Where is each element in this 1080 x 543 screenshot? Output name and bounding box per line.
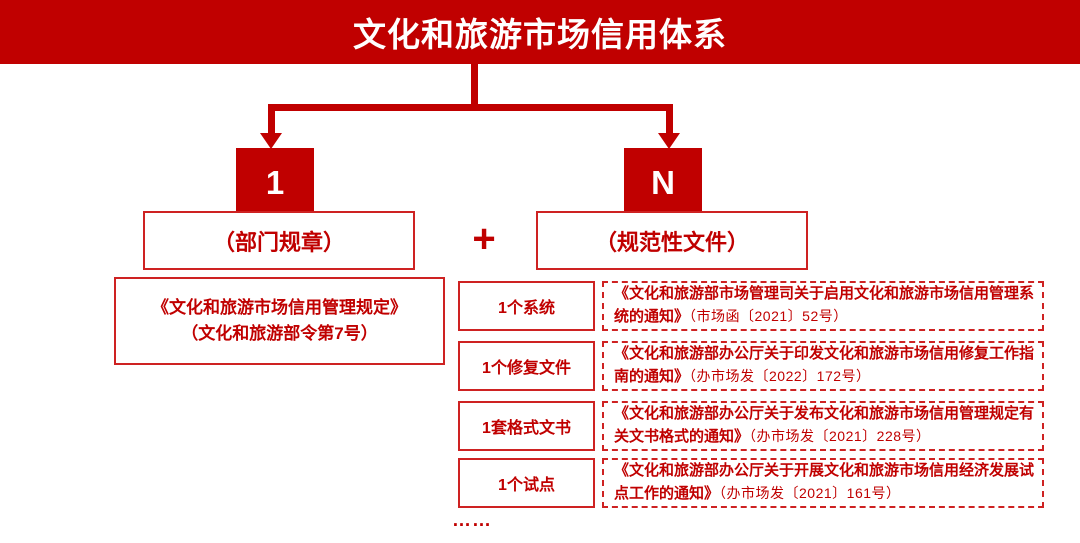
- connector-horizontal-bar: [268, 104, 673, 111]
- row-document-number: （办市场发〔2021〕161号）: [719, 485, 901, 501]
- category-box-normative-documents[interactable]: （规范性文件）: [536, 211, 808, 270]
- connector-stem-vertical: [471, 64, 478, 108]
- left-document-title: 《文化和旅游市场信用管理规定》: [152, 295, 407, 321]
- row-label[interactable]: 1个系统: [458, 281, 595, 331]
- badge-right-count: N: [624, 148, 702, 216]
- row-document-box[interactable]: 《文化和旅游部办公厅关于发布文化和旅游市场信用管理规定有关文书格式的通知》（办市…: [602, 401, 1044, 451]
- row-document-text: 《文化和旅游部办公厅关于发布文化和旅游市场信用管理规定有关文书格式的通知》（办市…: [614, 403, 1034, 449]
- row-document-text: 《文化和旅游部办公厅关于开展文化和旅游市场信用经济发展试点工作的通知》（办市场发…: [614, 460, 1034, 506]
- document-row: 1个系统 《文化和旅游部市场管理司关于启用文化和旅游市场信用管理系统的通知》（市…: [458, 281, 1044, 331]
- diagram-canvas: 文化和旅游市场信用体系 1 （部门规章） 《文化和旅游市场信用管理规定》 （文化…: [0, 0, 1080, 543]
- row-document-number: （市场函〔2021〕52号）: [689, 308, 848, 324]
- arrowhead-right-icon: [658, 133, 680, 149]
- left-document-box[interactable]: 《文化和旅游市场信用管理规定》 （文化和旅游部令第7号）: [114, 277, 445, 365]
- badge-left-count: 1: [236, 148, 314, 216]
- row-label[interactable]: 1个试点: [458, 458, 595, 508]
- category-box-departmental-rules[interactable]: （部门规章）: [143, 211, 415, 270]
- row-document-box[interactable]: 《文化和旅游部办公厅关于印发文化和旅游市场信用修复工作指南的通知》（办市场发〔2…: [602, 341, 1044, 391]
- row-document-box[interactable]: 《文化和旅游部办公厅关于开展文化和旅游市场信用经济发展试点工作的通知》（办市场发…: [602, 458, 1044, 508]
- row-document-number: （办市场发〔2021〕228号）: [749, 428, 931, 444]
- row-label[interactable]: 1个修复文件: [458, 341, 595, 391]
- row-document-text: 《文化和旅游部市场管理司关于启用文化和旅游市场信用管理系统的通知》（市场函〔20…: [614, 283, 1034, 329]
- connector-drop-left: [268, 104, 275, 136]
- page-title: 文化和旅游市场信用体系: [0, 0, 1080, 64]
- left-document-number: （文化和旅游部令第7号）: [181, 321, 377, 347]
- plus-operator-icon: +: [462, 216, 506, 262]
- row-document-number: （办市场发〔2022〕172号）: [689, 368, 871, 384]
- row-document-box[interactable]: 《文化和旅游部市场管理司关于启用文化和旅游市场信用管理系统的通知》（市场函〔20…: [602, 281, 1044, 331]
- row-label[interactable]: 1套格式文书: [458, 401, 595, 451]
- document-row: 1套格式文书 《文化和旅游部办公厅关于发布文化和旅游市场信用管理规定有关文书格式…: [458, 401, 1044, 451]
- connector-drop-right: [666, 104, 673, 136]
- arrowhead-left-icon: [260, 133, 282, 149]
- document-row: 1个修复文件 《文化和旅游部办公厅关于印发文化和旅游市场信用修复工作指南的通知》…: [458, 341, 1044, 391]
- row-document-text: 《文化和旅游部办公厅关于印发文化和旅游市场信用修复工作指南的通知》（办市场发〔2…: [614, 343, 1034, 389]
- document-row: 1个试点 《文化和旅游部办公厅关于开展文化和旅游市场信用经济发展试点工作的通知》…: [458, 458, 1044, 508]
- continuation-ellipsis: ……: [452, 510, 492, 532]
